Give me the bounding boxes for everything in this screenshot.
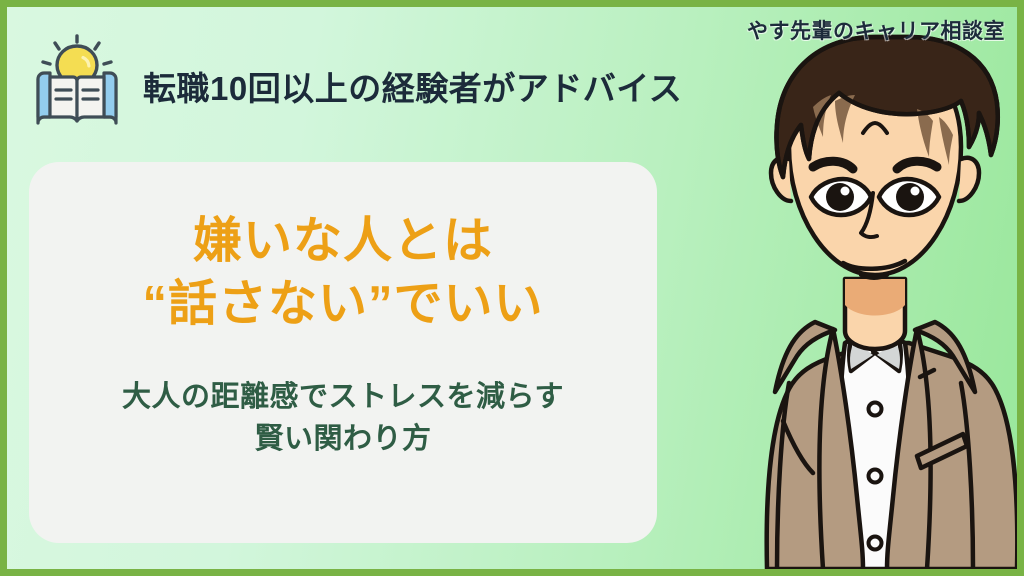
header-tagline: 転職10回以上の経験者がアドバイス [143,72,682,105]
book-with-lightbulb-icon [25,33,129,137]
channel-name: やす先輩のキャリア相談室 [747,15,1005,45]
main-title: 嫌いな人とは “話さない”でいい [142,210,543,335]
content-card: 嫌いな人とは “話さない”でいい 大人の距離感でストレスを減らす 賢い関わり方 [29,162,657,543]
sub-title-line-2: 賢い関わり方 [122,419,564,460]
sub-title-line-1: 大人の距離感でストレスを減らす [122,377,564,418]
main-title-line-2: “話さない”でいい [142,273,543,336]
sub-title: 大人の距離感でストレスを減らす 賢い関わり方 [122,377,564,459]
main-title-line-1: 嫌いな人とは [142,210,543,273]
header-row: 転職10回以上の経験者がアドバイス [25,33,682,137]
thumbnail-canvas: やす先輩のキャリア相談室 [0,0,1024,576]
